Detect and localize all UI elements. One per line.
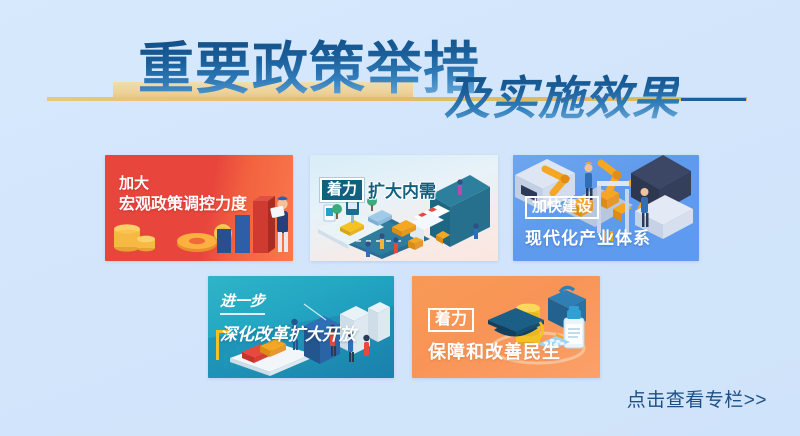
card-modern-industrial-system[interactable]: 加快建设 现代化产业体系 <box>513 155 699 261</box>
card-line2: 保障和改善民生 <box>428 338 561 364</box>
card-label: 着力扩大内需 <box>320 177 436 202</box>
card-line1: 加快建设 <box>525 196 599 219</box>
view-column-link[interactable]: 点击查看专栏>> <box>627 385 767 412</box>
card-label: 进一步 深化改革扩大开放 <box>220 290 356 345</box>
card-label: 着力 保障和改善民生 <box>428 308 561 364</box>
card-line2: 现代化产业体系 <box>525 224 651 249</box>
card-label: 加快建设 现代化产业体系 <box>525 196 651 249</box>
card-line1: 进一步 <box>220 290 265 315</box>
title-block: 重要政策举措 及实施效果 <box>0 0 800 140</box>
card-deepen-reform[interactable]: 进一步 深化改革扩大开放 <box>208 276 394 378</box>
card-line1: 加大 <box>119 173 247 194</box>
card-expand-domestic-demand[interactable]: 着力扩大内需 <box>310 155 498 261</box>
card-improve-livelihood[interactable]: 着力 保障和改善民生 <box>412 276 600 378</box>
card-line1: 着力 <box>428 308 474 332</box>
card-macro-policy[interactable]: 加大 宏观政策调控力度 <box>105 155 293 261</box>
card-line2: 扩大内需 <box>368 177 436 202</box>
poster-stage: 重要政策举措 及实施效果 <box>0 0 800 436</box>
isometric-city-illustration <box>310 155 498 261</box>
card-label: 加大 宏观政策调控力度 <box>119 173 247 215</box>
card-line2: 宏观政策调控力度 <box>119 194 247 215</box>
page-subtitle: 及实施效果 <box>444 72 679 124</box>
title-blue-rule <box>681 98 746 101</box>
page-title: 重要政策举措 <box>138 38 480 100</box>
card-line1: 着力 <box>320 178 364 202</box>
card-line2: 深化改革扩大开放 <box>220 320 356 345</box>
